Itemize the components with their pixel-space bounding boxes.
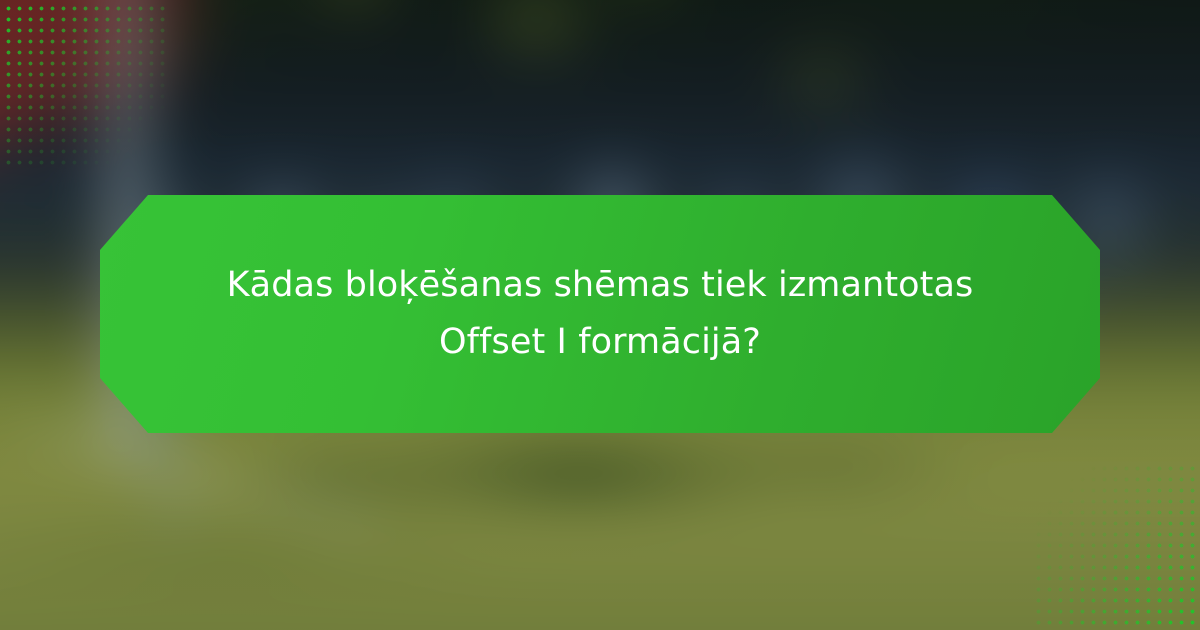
screenshot-stage: Kādas bloķēšanas shēmas tiek izmantotas … bbox=[0, 0, 1200, 630]
question-card: Kādas bloķēšanas shēmas tiek izmantotas … bbox=[100, 195, 1100, 433]
question-text: Kādas bloķēšanas shēmas tiek izmantotas … bbox=[130, 257, 1070, 370]
